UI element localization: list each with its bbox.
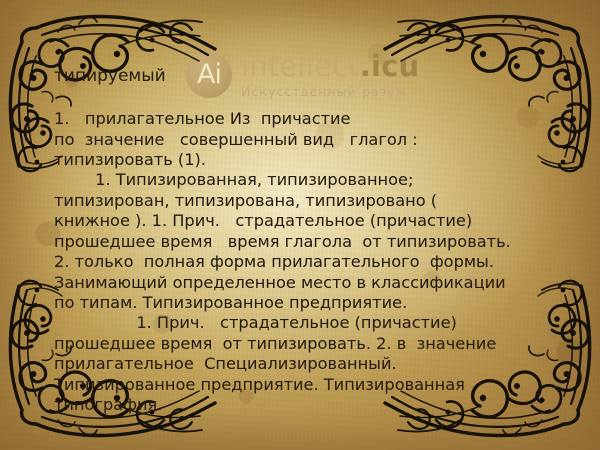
page-title: типируемый xyxy=(54,66,520,87)
parchment-page: Ai intellect.icu Искусственный разум тип… xyxy=(0,0,600,450)
document-body: типируемый 1. прилагательное Из причасти… xyxy=(54,66,520,415)
definition-paragraph-1: 1. прилагательное Из причастие по значен… xyxy=(54,109,520,170)
definition-paragraph-2: 1. Типизированная, типизированное; типиз… xyxy=(54,170,520,313)
definition-paragraph-3: 1. Прич. страдательное (причастие) проше… xyxy=(54,313,520,415)
